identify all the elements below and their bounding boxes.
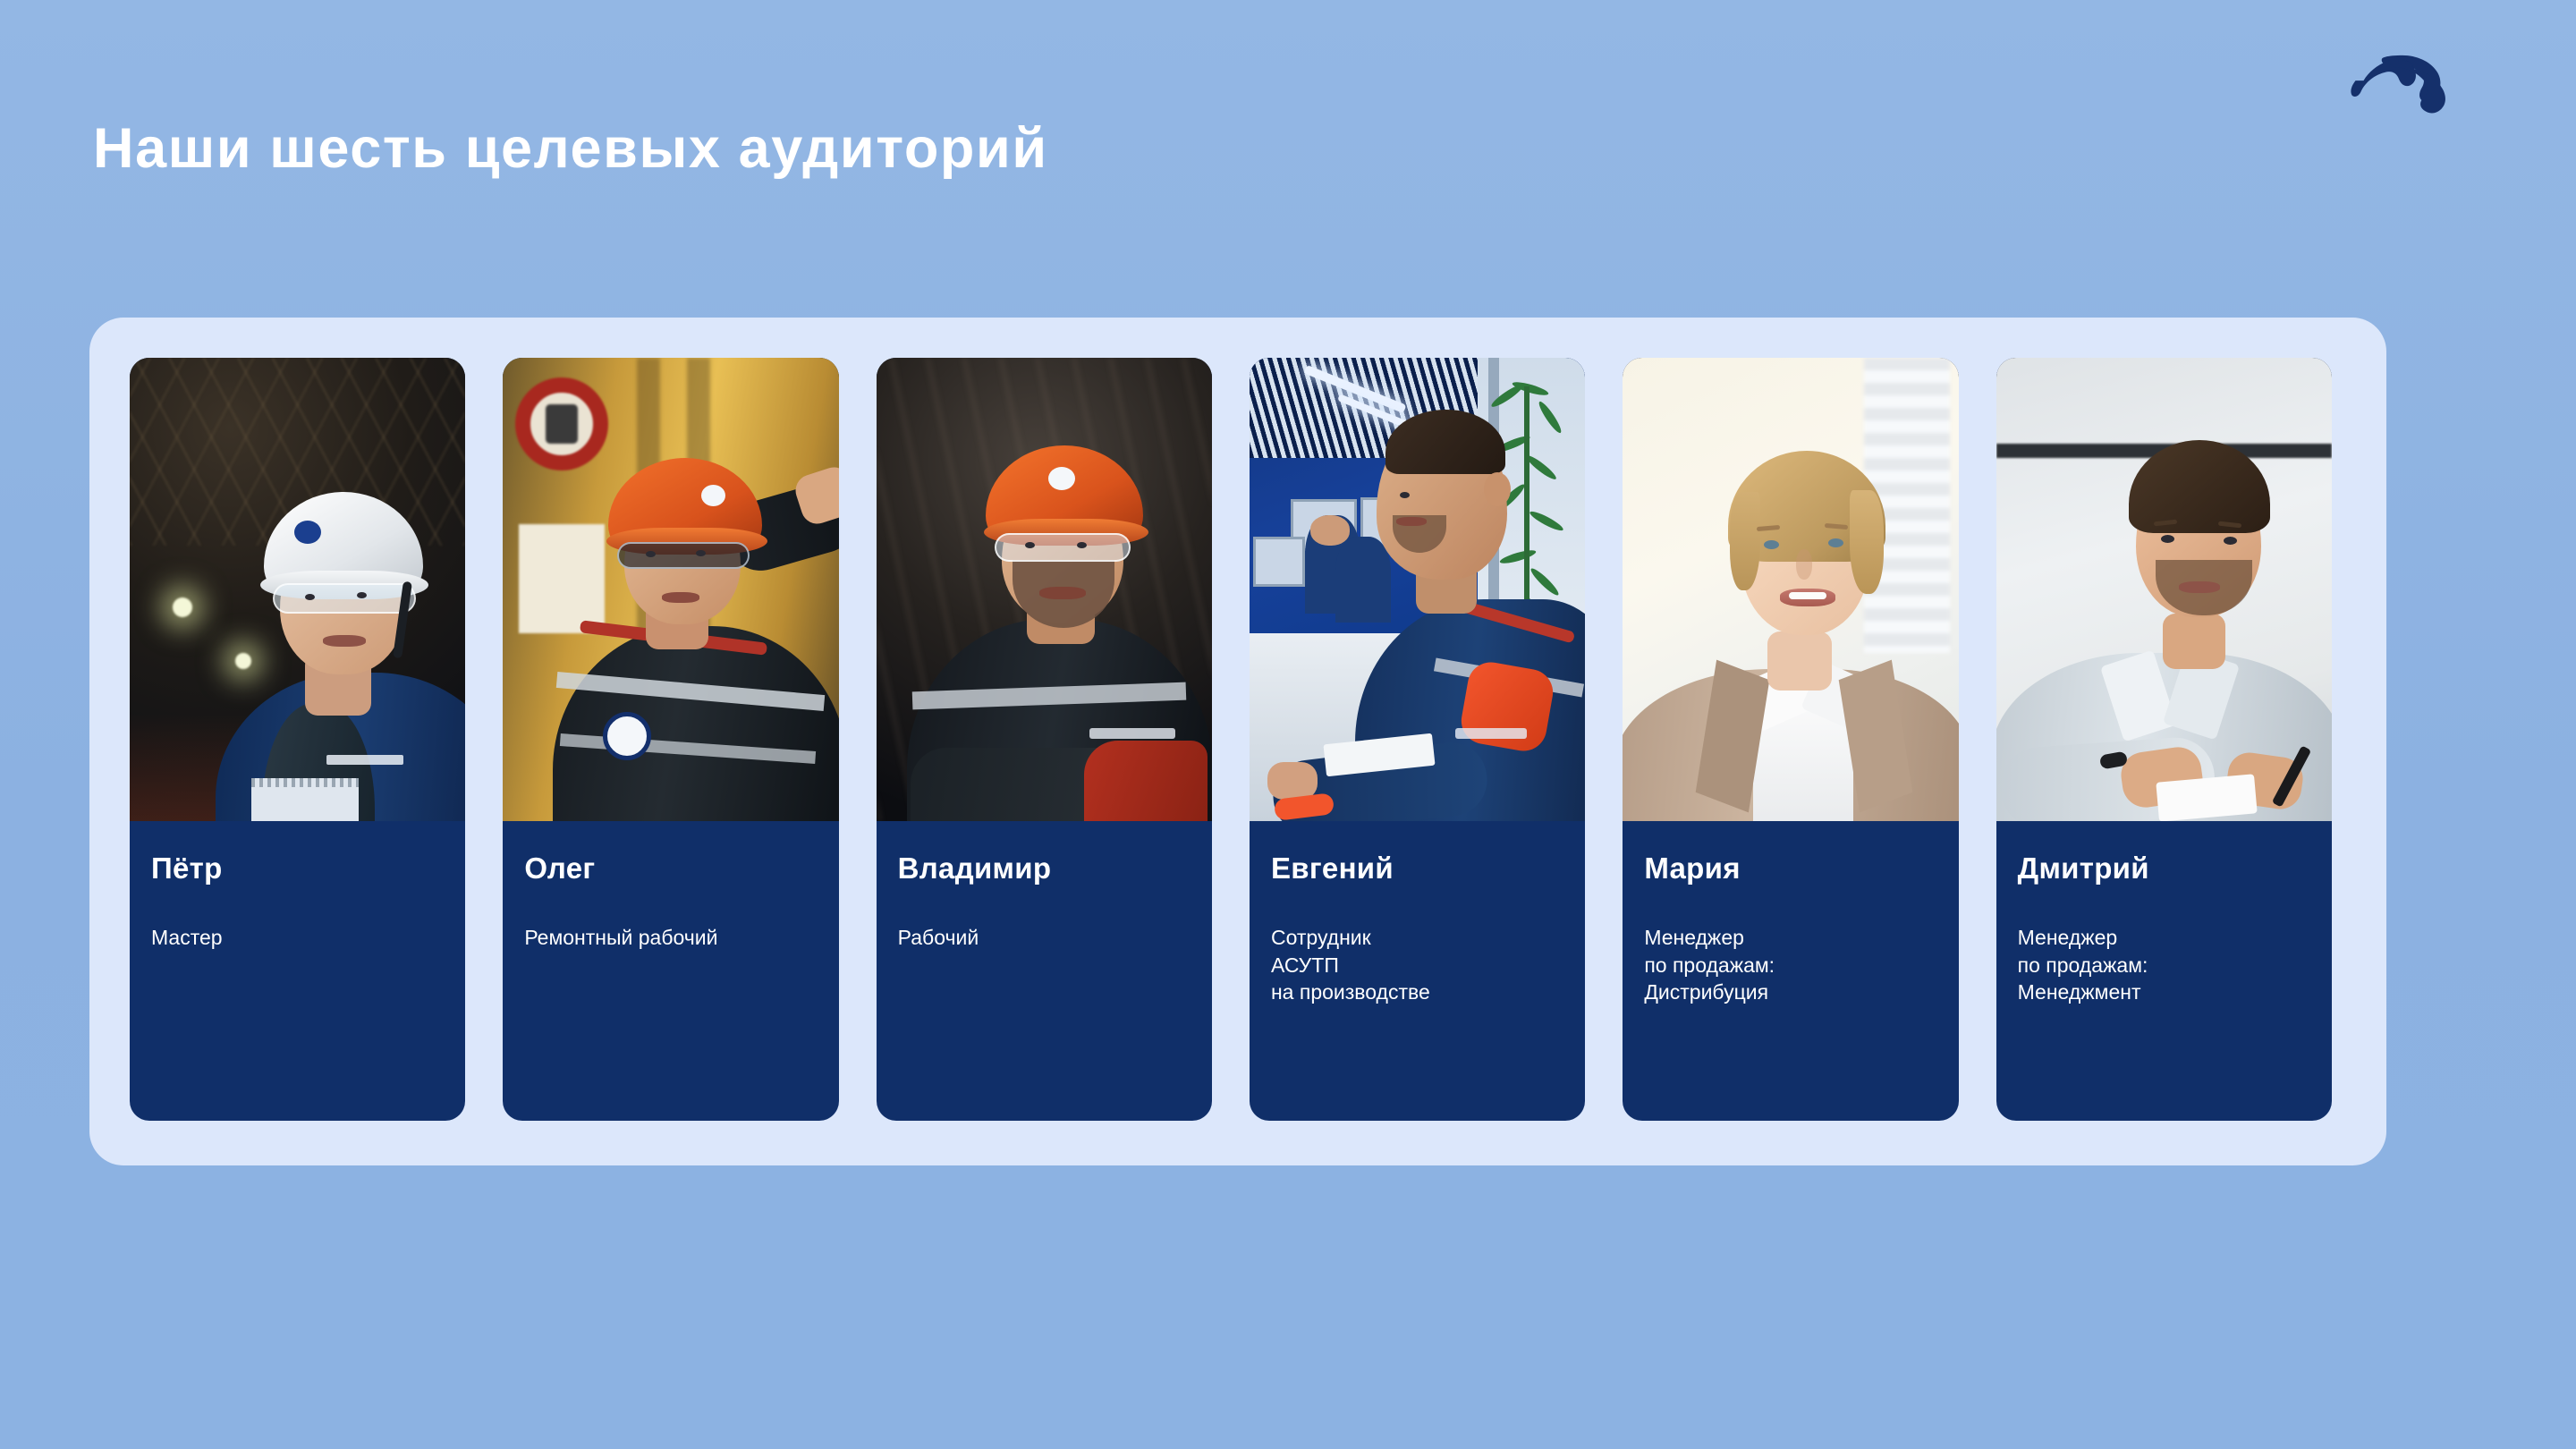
photo-worker-orange-helmet-dark [877, 358, 1212, 821]
audience-card[interactable]: Дмитрий Менеджер по продажам: Менеджмент [1996, 358, 2332, 1121]
audience-name: Евгений [1271, 853, 1563, 883]
audience-name: Дмитрий [2018, 853, 2310, 883]
safety-glasses-icon [995, 533, 1131, 562]
photo-businesswoman-blonde [1623, 358, 1958, 821]
photo-worker-orange-helmet-yellow-wall [503, 358, 838, 821]
photo-businessman-light-shirt [1996, 358, 2332, 821]
photo-worker-white-helmet [130, 358, 465, 821]
audience-role: Ремонтный рабочий [524, 924, 817, 952]
background-colleague [1335, 537, 1391, 623]
severstal-logo [2345, 39, 2460, 154]
severstal-patch-icon [603, 712, 651, 760]
audience-card-list: Пётр Мастер [130, 358, 2332, 1121]
audience-card[interactable]: Владимир Рабочий [877, 358, 1212, 1121]
helmet-logo-icon [294, 521, 321, 544]
audience-card[interactable]: Мария Менеджер по продажам: Дистрибуция [1623, 358, 1958, 1121]
safety-glasses-icon [617, 542, 750, 569]
audience-card[interactable]: Олег Ремонтный рабочий [503, 358, 838, 1121]
audience-name: Пётр [151, 853, 444, 883]
audience-role: Менеджер по продажам: Дистрибуция [1644, 924, 1936, 1006]
audience-role: Менеджер по продажам: Менеджмент [2018, 924, 2310, 1006]
red-sleeve [1084, 741, 1207, 821]
photo-control-room-operator [1250, 358, 1585, 821]
audience-name: Владимир [898, 853, 1191, 883]
audience-card[interactable]: Пётр Мастер [130, 358, 465, 1121]
page-title: Наши шесть целевых аудиторий [93, 116, 1048, 181]
helmet-logo-icon [1048, 467, 1075, 490]
audience-card[interactable]: Евгений Сотрудник АСУТП на производстве [1250, 358, 1585, 1121]
orange-shoulder-patch [1458, 658, 1557, 754]
audience-name: Мария [1644, 853, 1936, 883]
ear [1484, 472, 1511, 506]
audience-name: Олег [524, 853, 817, 883]
safety-glasses-icon [273, 583, 416, 614]
audience-role: Сотрудник АСУТП на производстве [1271, 924, 1563, 1006]
nose [1796, 549, 1812, 580]
audience-role: Мастер [151, 924, 444, 952]
audience-role: Рабочий [898, 924, 1191, 952]
